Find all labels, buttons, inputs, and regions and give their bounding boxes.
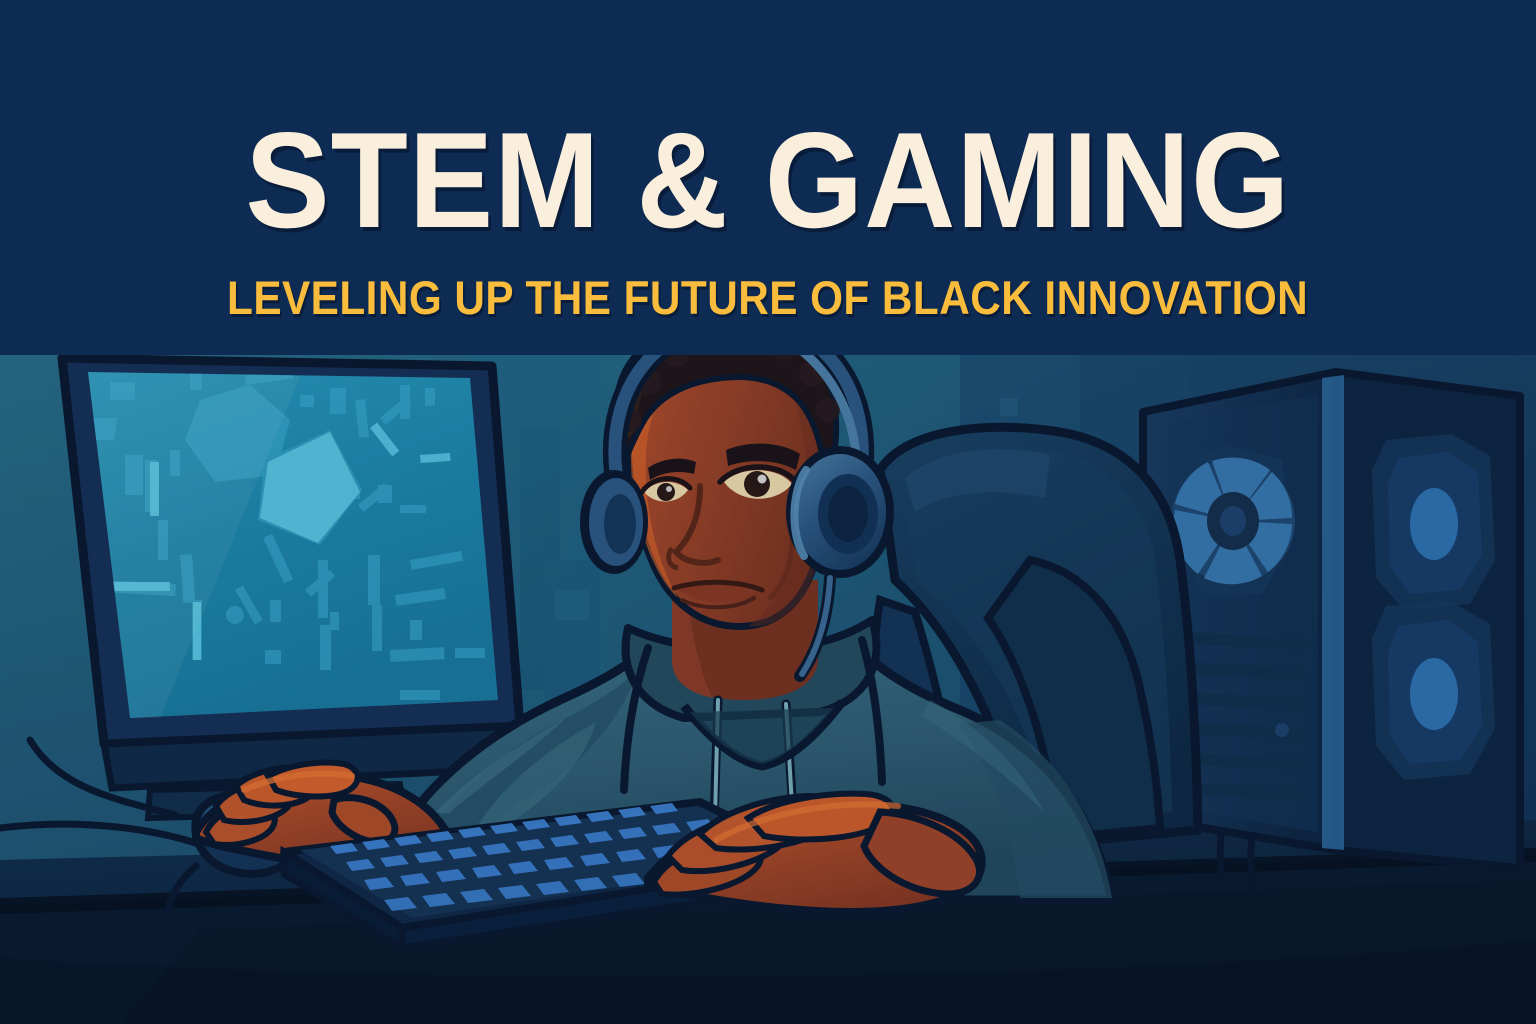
poster-root: STEM & GAMING LEVELING UP THE FUTURE OF …	[0, 0, 1536, 1024]
page-title: STEM & GAMING	[245, 112, 1290, 248]
page-subtitle: LEVELING UP THE FUTURE OF BLACK INNOVATI…	[227, 274, 1308, 321]
title-banner: STEM & GAMING LEVELING UP THE FUTURE OF …	[0, 0, 1536, 355]
